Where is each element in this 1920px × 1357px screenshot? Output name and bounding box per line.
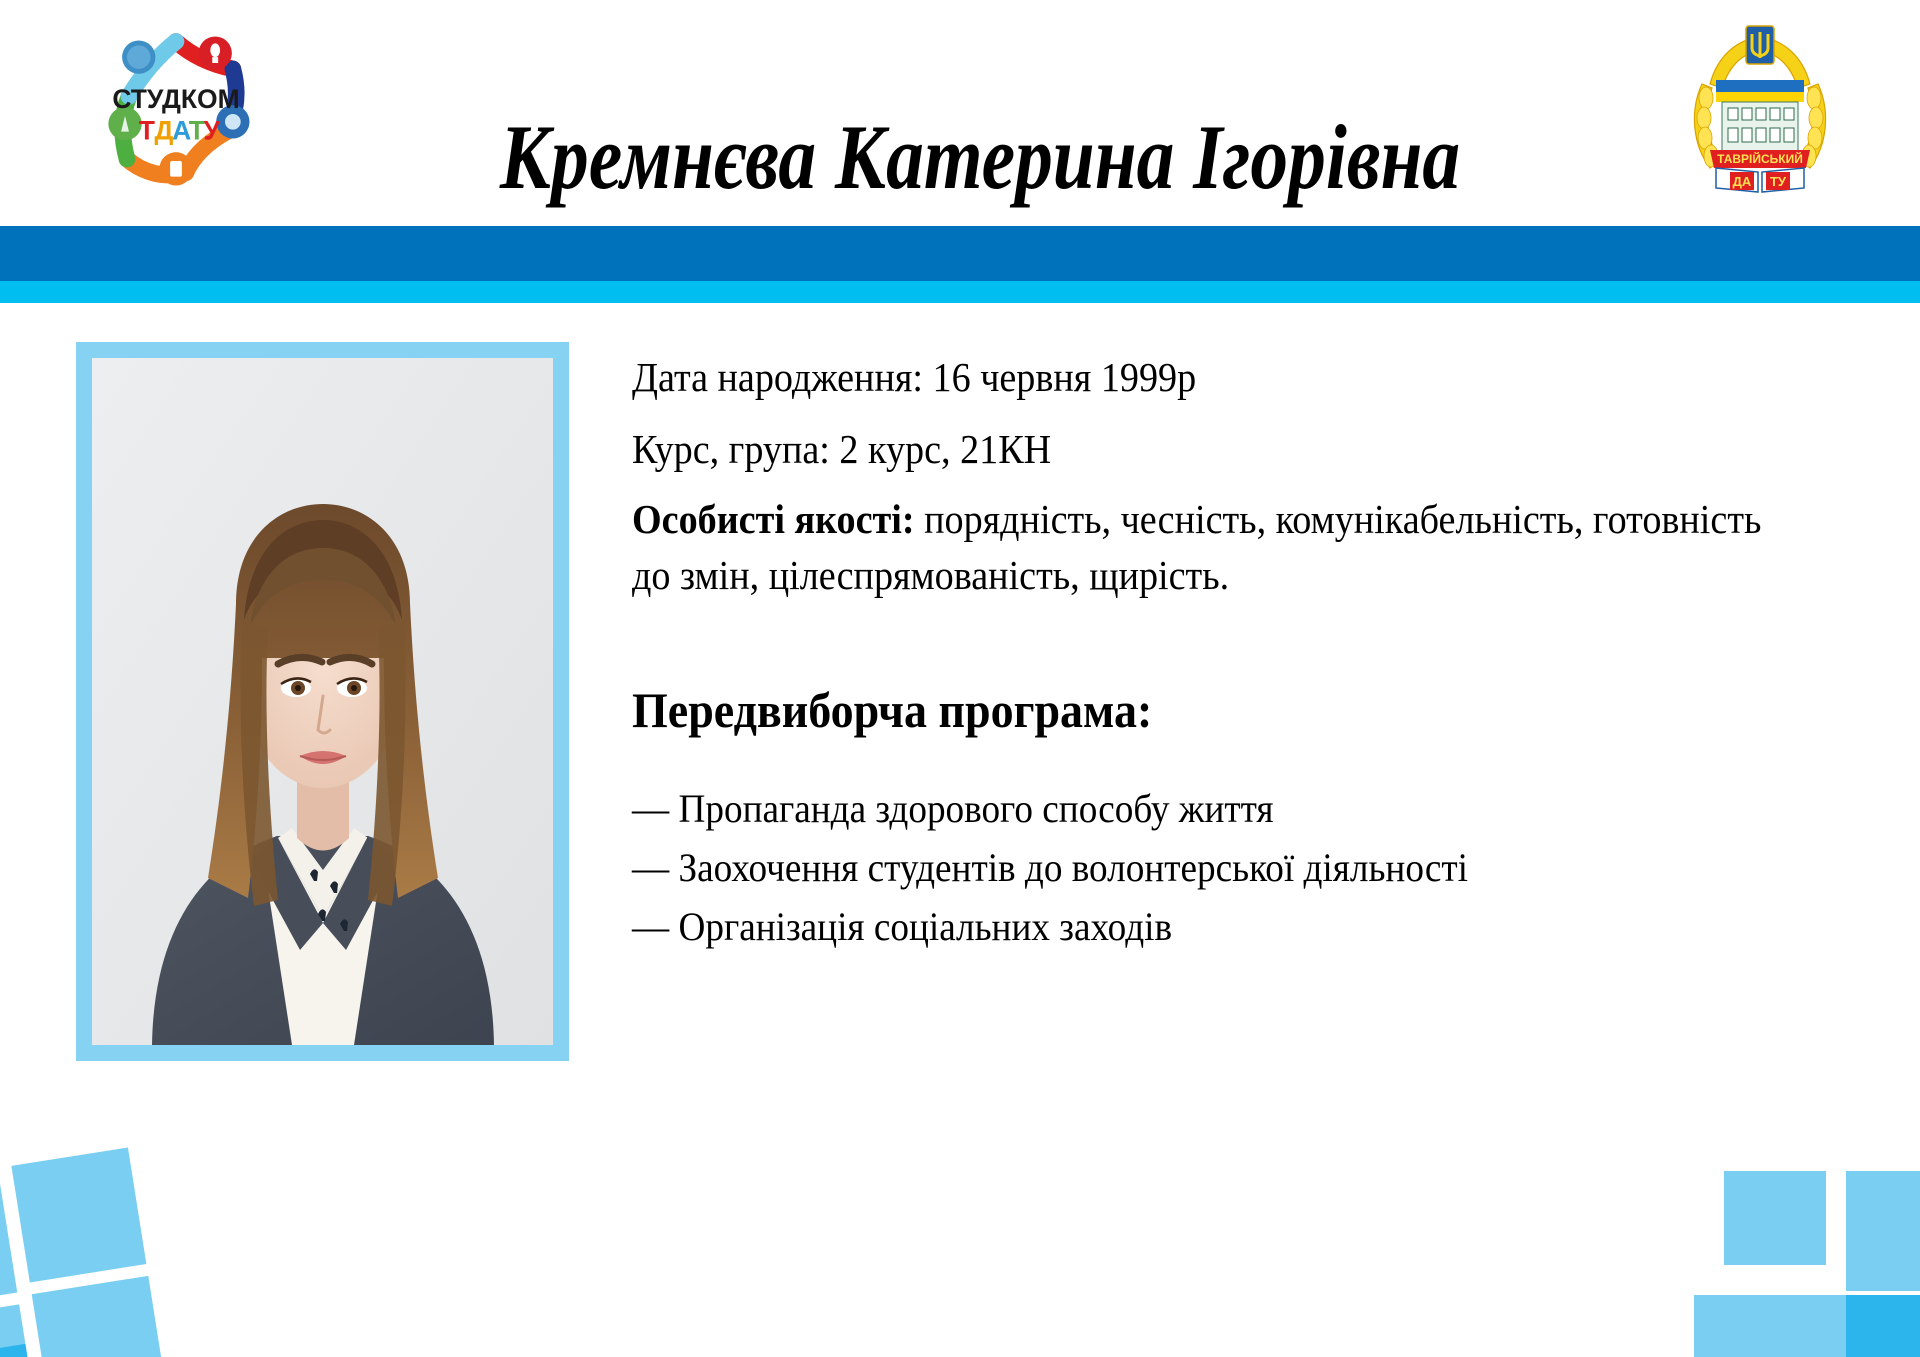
tdatu-emblem-right-text: ТУ bbox=[1770, 174, 1787, 189]
dash-marker: — bbox=[632, 783, 669, 836]
program-item-text: Заохочення студентів до волонтерської ді… bbox=[679, 845, 1468, 890]
svg-text:У: У bbox=[203, 115, 220, 145]
header: СТУДКОМ Т Д А Т У Кремнєва Катерина Ігор… bbox=[0, 0, 1920, 225]
portrait-illustration bbox=[92, 358, 553, 1045]
header-band-dark bbox=[0, 226, 1920, 281]
header-band-light bbox=[0, 281, 1920, 303]
tdatu-emblem: ТАВРІЙСЬКИЙ ДА ТУ bbox=[1680, 18, 1840, 193]
program-heading: Передвиборча програма: bbox=[632, 681, 1727, 739]
page-title: Кремнєва Катерина Ігорівна bbox=[447, 92, 1513, 222]
program-item: —Організація соціальних заходів bbox=[632, 901, 1739, 954]
program-item: —Пропаганда здорового способу життя bbox=[632, 783, 1739, 836]
program-item-text: Пропаганда здорового способу життя bbox=[679, 786, 1274, 831]
personal-qualities: Особисті якості: порядність, чесність, к… bbox=[632, 492, 1795, 603]
portrait-frame bbox=[76, 342, 569, 1061]
birth-date-line: Дата народження: 16 червня 1999р bbox=[632, 348, 1739, 406]
dash-marker: — bbox=[632, 901, 669, 954]
program-item: —Заохочення студентів до волонтерської д… bbox=[632, 842, 1739, 895]
svg-text:Т: Т bbox=[139, 115, 155, 145]
slide-root: СТУДКОМ Т Д А Т У Кремнєва Катерина Ігор… bbox=[0, 0, 1920, 1357]
course-group-line: Курс, група: 2 курс, 21КН bbox=[632, 420, 1739, 478]
dash-marker: — bbox=[632, 842, 669, 895]
decor-bottom-right bbox=[1660, 1145, 1920, 1357]
tdatu-emblem-top-text: ТАВРІЙСЬКИЙ bbox=[1717, 151, 1803, 166]
portrait-photo bbox=[92, 358, 553, 1045]
personal-qualities-label: Особисті якості: bbox=[632, 496, 915, 542]
studkom-tdatu-logo: СТУДКОМ Т Д А Т У bbox=[78, 14, 274, 210]
decor-bottom-left bbox=[0, 1130, 300, 1357]
program-item-text: Організація соціальних заходів bbox=[679, 904, 1173, 949]
candidate-details: Дата народження: 16 червня 1999р Курс, г… bbox=[632, 348, 1822, 960]
program-list: —Пропаганда здорового способу життя —Зао… bbox=[632, 783, 1822, 953]
tdatu-emblem-left-text: ДА bbox=[1733, 174, 1752, 189]
studkom-logo-text: СТУДКОМ bbox=[112, 84, 239, 114]
svg-text:Д: Д bbox=[154, 115, 173, 145]
